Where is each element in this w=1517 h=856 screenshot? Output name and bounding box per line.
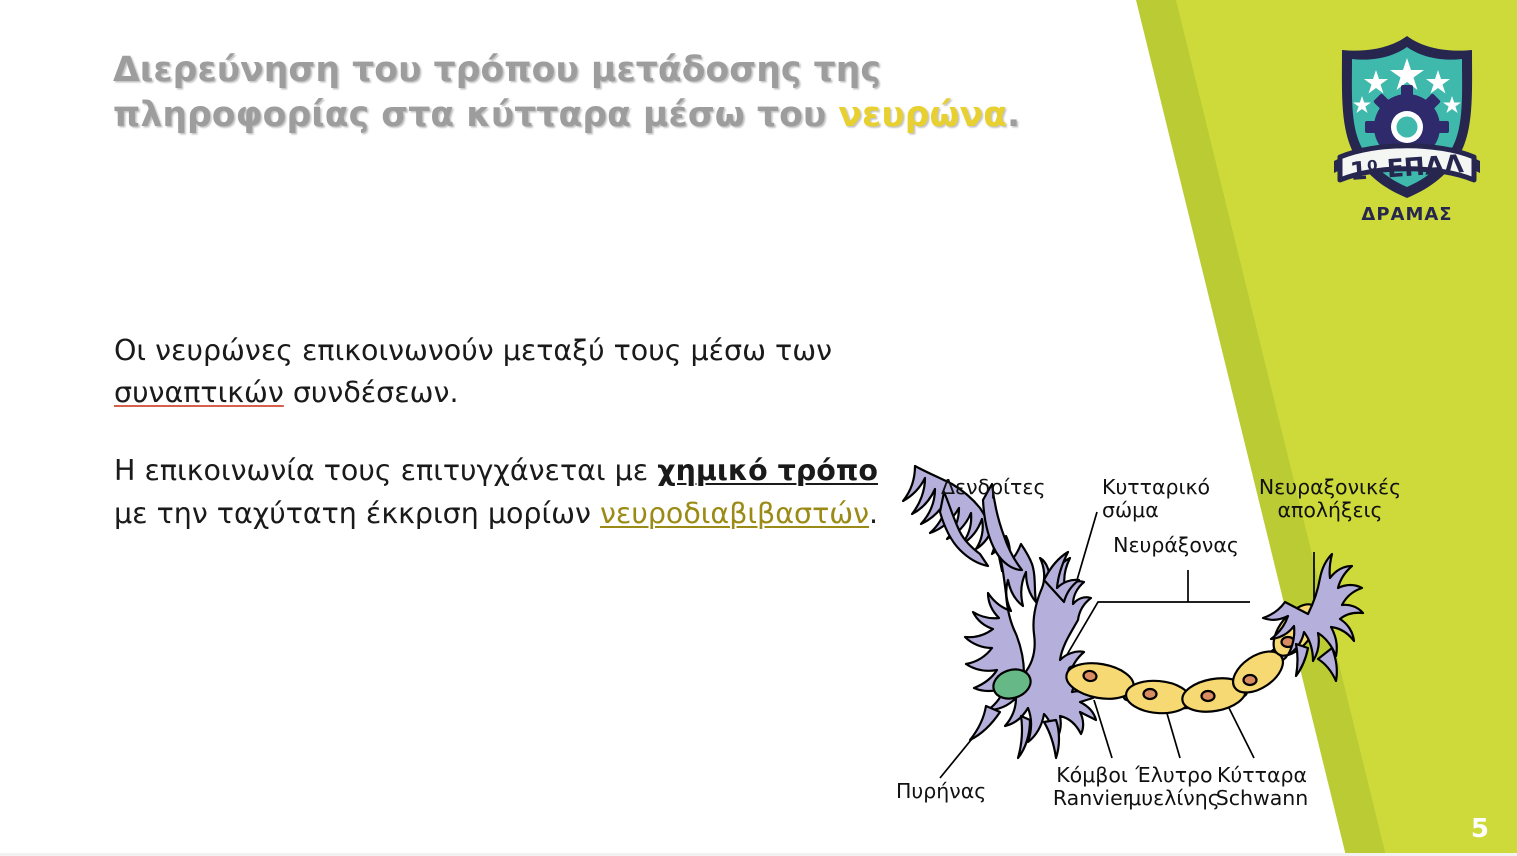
p2-bold-phrase: χημικό τρόπο <box>657 454 878 487</box>
page-number: 5 <box>1471 816 1489 842</box>
soma-and-dendrites-shape <box>903 466 1096 742</box>
leader-ranvier <box>1094 700 1112 758</box>
label-axon-terminals-2: απολήξεις <box>1277 498 1382 522</box>
title-line-2-suffix: . <box>1007 95 1020 135</box>
p1-spellcheck-word: συναπτικών <box>114 376 284 409</box>
p2-text-c: . <box>869 497 878 530</box>
paragraph-2: Η επικοινωνία τους επιτυγχάνεται με χημι… <box>114 450 914 534</box>
label-ranvier-nodes: Κόμβοι <box>1056 763 1128 787</box>
p2-text-b: με την ταχύτατη έκκριση μορίων <box>114 497 600 530</box>
label-dendrites: Δενδρίτες <box>941 475 1046 499</box>
leader-axon <box>1058 602 1250 670</box>
school-logo: 1⁰ ΕΠΑΛ ΔΡΑΜΑΣ <box>1326 30 1488 225</box>
label-ranvier-nodes-2: Ranvier <box>1053 786 1132 810</box>
label-schwann-cells-2: Schwann <box>1216 786 1309 810</box>
body-text: Οι νευρώνες επικοινωνούν μεταξύ τους μέσ… <box>114 330 914 535</box>
leader-myelin <box>1166 710 1180 758</box>
label-cell-body-2: σώμα <box>1102 498 1159 522</box>
title-highlight-word: νευρώνα <box>838 95 1007 135</box>
p2-link-word[interactable]: νευροδιαβιβαστών <box>600 497 869 530</box>
slide-canvas: Διερεύνηση του τρόπου μετάδοσης της πληρ… <box>0 0 1517 856</box>
neuron-cell <box>903 466 1096 742</box>
page-title: Διερεύνηση του τρόπου μετάδοσης της πληρ… <box>113 48 1123 138</box>
title-line-2-prefix: πληροφορίας στα κύτταρα μέσω του <box>113 95 838 135</box>
label-cell-body: Κυτταρικό <box>1102 475 1210 499</box>
label-myelin-sheath-2: μυελίνης <box>1128 786 1220 810</box>
logo-subtitle-text: ΔΡΑΜΑΣ <box>1361 204 1452 225</box>
p1-text-a: Οι νευρώνες επικοινωνούν μεταξύ τους μέσ… <box>114 334 832 367</box>
p1-text-b: συνδέσεων. <box>284 376 459 409</box>
paragraph-1: Οι νευρώνες επικοινωνούν μεταξύ τους μέσ… <box>114 330 914 414</box>
label-schwann-cells: Κύτταρα <box>1217 763 1307 787</box>
title-line-1: Διερεύνηση του τρόπου μετάδοσης της <box>113 50 881 90</box>
p2-text-a: Η επικοινωνία τους επιτυγχάνεται με <box>114 454 657 487</box>
label-axon-terminals: Νευραξονικές <box>1259 475 1401 499</box>
label-myelin-sheath: Έλυτρο <box>1134 763 1212 787</box>
label-axon: Νευράξονας <box>1113 533 1239 557</box>
neuron-diagram: Δενδρίτες Κυτταρικό σώμα Νευράξονας Νευρ… <box>884 462 1504 822</box>
label-nucleus: Πυρήνας <box>896 779 986 803</box>
